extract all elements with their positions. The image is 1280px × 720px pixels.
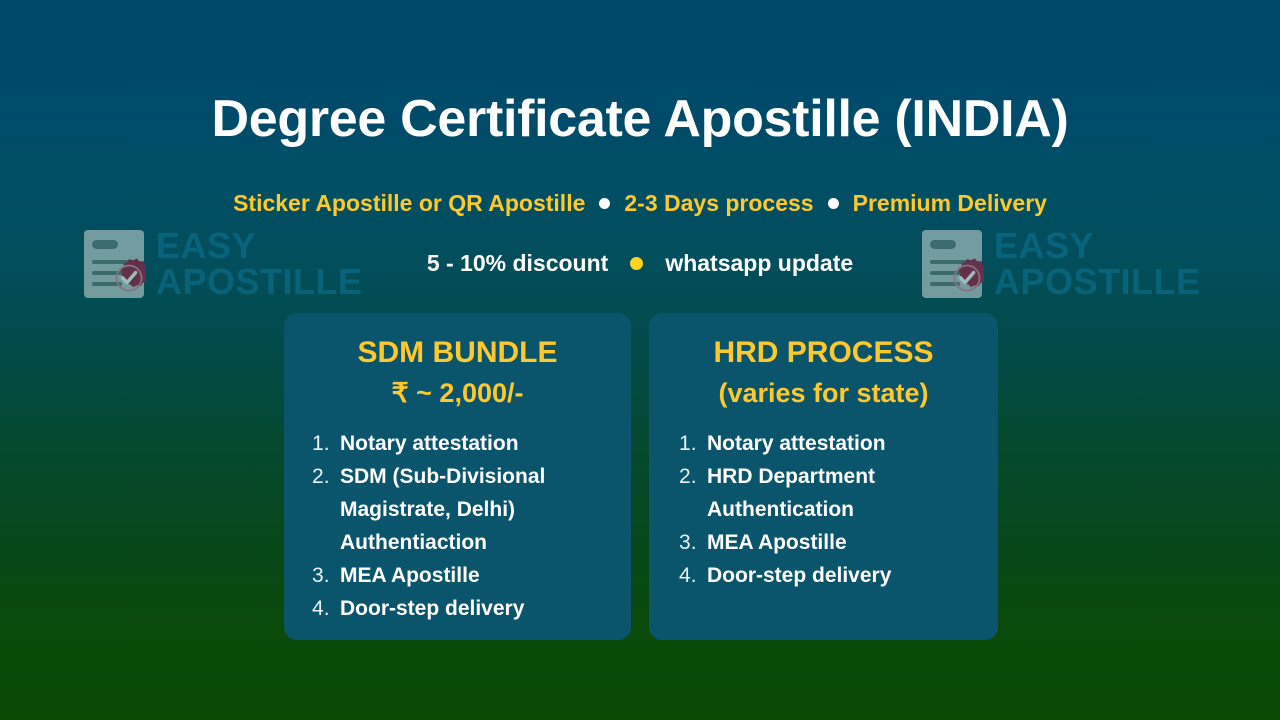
list-item: MEA Apostille bbox=[679, 526, 971, 559]
list-item: SDM (Sub-Divisional Magistrate, Delhi) A… bbox=[312, 460, 602, 559]
page-title: Degree Certificate Apostille (INDIA) bbox=[0, 88, 1280, 150]
card-title-sdm: SDM BUNDLE bbox=[284, 333, 631, 373]
card-price-sdm: ₹ ~ 2,000/- bbox=[284, 373, 631, 413]
list-item: Notary attestation bbox=[312, 427, 602, 460]
list-item: MEA Apostille bbox=[312, 559, 602, 592]
feature-whatsapp-update: whatsapp update bbox=[665, 248, 853, 278]
card-hrd-process[interactable]: HRD PROCESS (varies for state) Notary at… bbox=[649, 313, 998, 640]
feature-processing-time: 2-3 Days process bbox=[624, 188, 813, 218]
list-item: HRD Department Authentication bbox=[679, 460, 971, 526]
feature-line-primary: Sticker Apostille or QR Apostille 2-3 Da… bbox=[0, 188, 1280, 218]
feature-sticker-apostille: Sticker Apostille or QR Apostille bbox=[233, 188, 585, 218]
card-steps-hrd: Notary attestation HRD Department Authen… bbox=[679, 427, 971, 592]
dot-separator-icon bbox=[828, 198, 839, 209]
feature-discount: 5 - 10% discount bbox=[427, 248, 608, 278]
pricing-cards-container: SDM BUNDLE ₹ ~ 2,000/- Notary attestatio… bbox=[284, 313, 998, 640]
card-title-hrd: HRD PROCESS bbox=[649, 333, 998, 373]
feature-line-secondary: 5 - 10% discount whatsapp update bbox=[0, 248, 1280, 278]
dot-separator-icon bbox=[599, 198, 610, 209]
list-item: Door-step delivery bbox=[312, 592, 602, 625]
dot-separator-icon bbox=[630, 257, 643, 270]
card-steps-sdm: Notary attestation SDM (Sub-Divisional M… bbox=[312, 427, 602, 625]
card-note-hrd: (varies for state) bbox=[649, 373, 998, 413]
list-item: Door-step delivery bbox=[679, 559, 971, 592]
card-sdm-bundle[interactable]: SDM BUNDLE ₹ ~ 2,000/- Notary attestatio… bbox=[284, 313, 631, 640]
feature-premium-delivery: Premium Delivery bbox=[853, 188, 1047, 218]
list-item: Notary attestation bbox=[679, 427, 971, 460]
